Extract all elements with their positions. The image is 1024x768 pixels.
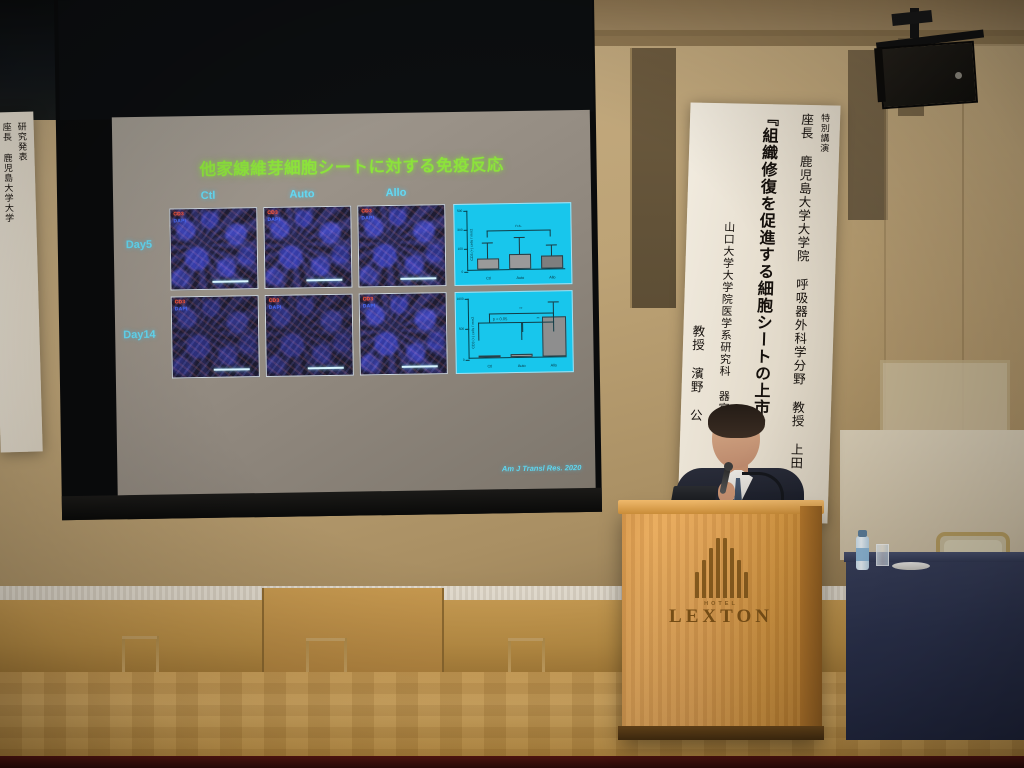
micrograph-day5-ctl: CD3 DAPI: [169, 207, 258, 290]
bar-chart-day14: CD3 (+) cells / mm2 1000 500 0: [455, 290, 574, 374]
chart-significance-bracket-2: [522, 321, 554, 332]
chart-errorcap-allo: [548, 301, 559, 302]
chart-bar-ctl: [479, 355, 501, 357]
chart-ytick-label: 0: [463, 358, 465, 362]
dapi-label: DAPI: [363, 303, 376, 309]
scale-bar: [308, 366, 344, 369]
presentation-slide: 他家線維芽細胞シートに対する免疫反応 Ctl Auto Allo Day5 Da…: [112, 110, 596, 495]
chart-ytick: 500: [465, 329, 469, 330]
dapi-label: DAPI: [175, 306, 188, 312]
chart-ytick: 500: [463, 211, 467, 212]
micrograph-day14-auto: CD3 DAPI: [265, 294, 354, 377]
dapi-label: DAPI: [361, 215, 374, 221]
wall-rail-top: [122, 636, 157, 639]
projection-screen-assembly: 他家線維芽細胞シートに対する免疫反応 Ctl Auto Allo Day5 Da…: [54, 0, 602, 520]
chart-xlabel-allo: Allo: [549, 275, 555, 279]
slide-citation: Am J Transl Res. 2020: [502, 463, 582, 473]
scale-bar: [306, 278, 342, 281]
column-header-ctl: Ctl: [169, 189, 247, 202]
water-bottle-cap: [858, 530, 867, 537]
podium-logo: HOTEL LEXTON: [622, 536, 820, 628]
wall-recess-panel: [630, 48, 676, 308]
drinking-glass: [876, 544, 889, 566]
row-label-day5: Day5: [126, 239, 152, 251]
podium: HOTEL LEXTON: [622, 508, 820, 740]
head-table-top: [844, 552, 1024, 562]
slide-title: 他家線維芽細胞シートに対する免疫反応: [112, 150, 590, 182]
chart-ytick: 1000: [465, 299, 469, 300]
micrograph-day14-ctl: CD3 DAPI: [171, 295, 260, 378]
bar-chart-day5: CD3 (+) cells / mm2 500 300 100 0: [453, 202, 572, 286]
stage-edge: [0, 756, 1024, 768]
banner-line-lecture-title: 『組織修復を促進する細胞シートの上市』: [746, 110, 780, 433]
speaker-hair: [708, 404, 765, 438]
lexton-emblem-icon: [695, 536, 748, 598]
banner-line-special-lecture: 特別講演: [818, 113, 832, 153]
conference-hall-photo: 他家線維芽細胞シートに対する免疫反応 Ctl Auto Allo Day5 Da…: [0, 0, 1024, 768]
projection-screen-housing: [58, 0, 594, 120]
chart-ytick: 100: [464, 249, 468, 250]
chart-bar-ctl: [477, 258, 499, 269]
podium-brand-large: LEXTON: [669, 606, 773, 628]
cd3-label: CD3: [269, 298, 280, 304]
chart-errorcap-auto: [514, 237, 525, 238]
dapi-label: DAPI: [173, 218, 186, 224]
chart-ytick-label: 1000: [457, 297, 464, 301]
chart-ylabel: CD3 (+) cells / mm2: [471, 317, 475, 349]
chart-significance-label: n.s.: [515, 223, 522, 228]
dapi-label: DAPI: [267, 217, 280, 223]
scale-bar: [402, 365, 438, 368]
chart-y-axis: [466, 211, 468, 271]
chart-ytick-label: 0: [461, 270, 463, 274]
column-header-auto: Auto: [263, 188, 341, 201]
chart-ytick-label: 300: [457, 228, 462, 232]
wall-rail-top: [306, 638, 345, 641]
chart-significance-label-3: **: [519, 306, 522, 311]
chart-errorbar-ctl: [487, 243, 488, 258]
cd3-label: CD3: [175, 299, 186, 305]
ceiling-speaker-knob: [955, 72, 962, 79]
chart-ytick-label: 100: [458, 247, 463, 251]
banner-line-presenter: 教授 濱野 公: [686, 325, 708, 423]
podium-base: [618, 726, 824, 740]
chart-significance-label-2: **: [536, 316, 539, 321]
chart-bar-auto: [509, 254, 531, 269]
chart-bar-allo: [541, 255, 563, 268]
banner-main: 特別講演 座長 鹿児島大学大学院 呼吸器外科学分野 教授 上田 和弘 『組織修復…: [677, 103, 840, 524]
micrograph-day14-allo: CD3 DAPI: [359, 292, 448, 375]
banner-line-affiliation: 山口大学大学院医学系研究科 器官: [715, 221, 737, 414]
water-bottle-label: [856, 548, 869, 561]
projection-screen-surface: 他家線維芽細胞シートに対する免疫反応 Ctl Auto Allo Day5 Da…: [112, 110, 596, 495]
cd3-label: CD3: [363, 296, 374, 302]
chart-ytick: 0: [466, 360, 470, 361]
chart-ytick-label: 500: [457, 209, 462, 213]
chart-ylabel: CD3 (+) cells / mm2: [470, 229, 474, 261]
micrograph-day5-auto: CD3 DAPI: [263, 206, 352, 289]
dapi-label: DAPI: [269, 305, 282, 311]
cd3-label: CD3: [173, 211, 184, 217]
chart-xlabel-auto: Auto: [516, 276, 524, 280]
chart-errorcap-allo: [546, 244, 557, 245]
banner-left-line-1: 研究発表: [16, 122, 30, 162]
scale-bar: [214, 368, 250, 371]
chart-significance-bracket-1: [478, 322, 522, 341]
scale-bar: [400, 277, 436, 280]
column-header-allo: Allo: [357, 186, 435, 199]
wall-rail-top: [508, 638, 543, 641]
ceiling-speaker: [878, 41, 978, 110]
row-label-day14: Day14: [123, 329, 156, 342]
chart-errorcap-ctl: [482, 242, 493, 243]
chart-significance-bracket: [487, 230, 551, 238]
chart-significance-label-1: p < 0.05: [493, 316, 508, 321]
cd3-label: CD3: [267, 210, 278, 216]
chart-xlabel-ctl: Ctl: [486, 276, 491, 280]
micrograph-day5-allo: CD3 DAPI: [357, 204, 446, 287]
podium-top-surface: [618, 500, 824, 514]
banner-left-line-2: 座長 鹿児島大学大学: [1, 122, 17, 223]
chart-bar-auto: [511, 354, 533, 357]
chart-ytick: 0: [464, 272, 468, 273]
podium-side-panel: [800, 506, 822, 736]
chart-ytick-label: 500: [459, 327, 464, 331]
chart-ytick: 300: [464, 230, 468, 231]
chart-xlabel-auto: Auto: [518, 364, 526, 368]
head-table-cloth: [846, 558, 1024, 740]
chart-xlabel-ctl: Ctl: [487, 364, 492, 368]
microphone-head-icon: [724, 462, 733, 471]
chart-xlabel-allo: Allo: [551, 363, 557, 367]
banner-line-chair: 座長 鹿児島大学大学院 呼吸器外科学分野 教授 上田 和弘: [785, 113, 817, 512]
cd3-label: CD3: [361, 208, 372, 214]
scale-bar: [212, 280, 248, 283]
chart-errorbar-allo: [551, 245, 552, 255]
chart-errorbar-auto: [519, 238, 520, 254]
saucer: [892, 562, 930, 570]
